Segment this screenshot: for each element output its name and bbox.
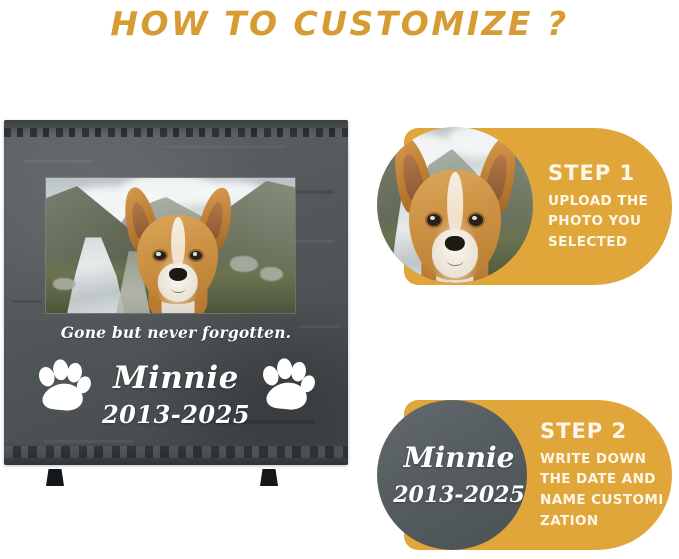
plaque-pet-dates: 2013-2025	[4, 400, 348, 429]
plaque-stand-left	[46, 469, 64, 486]
dog-eye-left	[427, 214, 441, 226]
dog-blaze	[171, 217, 185, 267]
dog-blaze	[447, 172, 463, 234]
plaque-photo	[46, 178, 295, 313]
step-2-pet-name: Minnie	[404, 444, 515, 472]
step-1-card: STEP 1 UPLOAD THE PHOTO YOU SELECTED	[404, 128, 672, 285]
step-2-text-block: STEP 2 WRITE DOWN THE DATE AND NAME CUST…	[540, 400, 672, 550]
dog-eye-left	[154, 251, 166, 261]
landscape-scene	[377, 127, 533, 283]
step-2-pet-dates: 2013-2025	[393, 484, 525, 506]
dog-nose	[169, 268, 187, 281]
dog-eye-right	[190, 251, 202, 261]
corgi-dog	[123, 187, 233, 311]
slate-stone-body: Gone but never forgotten. Minnie 2013-20…	[4, 120, 348, 465]
corgi-dog	[393, 136, 518, 283]
slate-texture-streak	[12, 300, 43, 303]
rock	[230, 256, 257, 272]
step-2-line-4: ZATION	[540, 511, 672, 532]
step-2-circular-slate-swatch: Minnie 2013-2025	[377, 400, 527, 550]
step-1-text-block: STEP 1 UPLOAD THE PHOTO YOU SELECTED	[548, 128, 674, 285]
slate-bottom-rough-edge	[4, 443, 348, 465]
dog-head	[409, 170, 501, 280]
step-1-heading: STEP 1	[548, 161, 674, 185]
step-2-line-1: WRITE DOWN	[540, 449, 672, 470]
slate-texture-streak	[24, 160, 95, 163]
step-1-line-3: SELECTED	[548, 232, 674, 253]
rock	[260, 267, 282, 281]
page-title: HOW TO CUSTOMIZE ?	[0, 4, 679, 43]
step-2-line-3: NAME CUSTOMI	[540, 490, 672, 511]
rock	[53, 278, 75, 290]
step-1-circular-photo	[377, 127, 533, 283]
slate-texture-streak	[164, 146, 285, 148]
step-2-line-2: THE DATE AND	[540, 469, 672, 490]
step-1-line-2: PHOTO YOU	[548, 211, 674, 232]
step-2-card: Minnie 2013-2025 STEP 2 WRITE DOWN THE D…	[404, 400, 672, 550]
plaque-epitaph: Gone but never forgotten.	[4, 323, 348, 342]
step-1-line-1: UPLOAD THE	[548, 191, 674, 212]
dog-eye-right	[469, 214, 483, 226]
dog-mouth	[171, 283, 186, 293]
dog-mouth	[447, 254, 464, 266]
slate-top-rough-edge	[4, 120, 348, 136]
plaque-pet-name: Minnie	[4, 360, 348, 396]
landscape-scene	[46, 178, 295, 313]
step-2-heading: STEP 2	[540, 419, 672, 443]
memorial-plaque: Gone but never forgotten. Minnie 2013-20…	[4, 114, 348, 486]
plaque-stand-right	[260, 469, 278, 486]
